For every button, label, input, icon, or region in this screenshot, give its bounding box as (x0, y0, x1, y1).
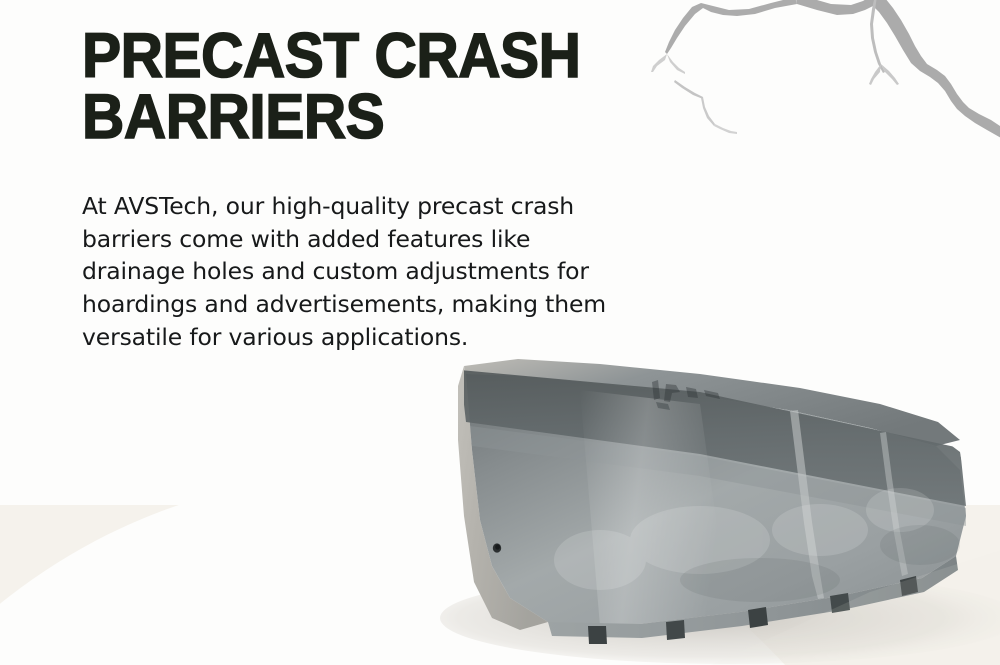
page-title: PRECAST CRASH BARRIERS (82, 26, 603, 148)
body-paragraph: At AVSTech, our high-quality precast cra… (82, 190, 634, 353)
poster-canvas: PRECAST CRASH BARRIERS At AVSTech, our h… (0, 0, 1000, 665)
headline-line-1: PRECAST CRASH (82, 26, 603, 87)
headline-line-2: BARRIERS (82, 87, 603, 148)
precast-barrier-image (400, 330, 1000, 665)
